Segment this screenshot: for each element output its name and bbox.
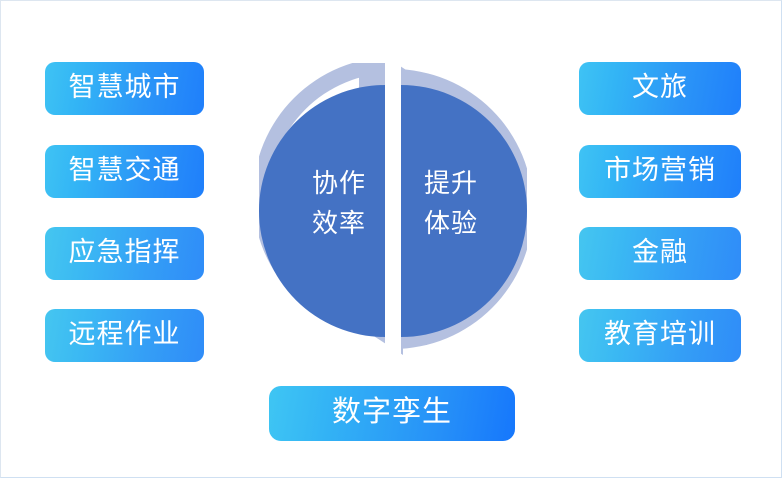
pill-left-smart-city[interactable]: 智慧城市 bbox=[45, 62, 204, 115]
cycle-label-right: 提升 体验 bbox=[405, 163, 497, 244]
pill-right-culture-tourism[interactable]: 文旅 bbox=[579, 62, 741, 115]
cycle-label-left: 协作 效率 bbox=[293, 163, 385, 244]
pill-label: 数字孪生 bbox=[332, 398, 452, 427]
cycle-label-left-line1: 协作 bbox=[293, 163, 385, 203]
pill-right-finance[interactable]: 金融 bbox=[579, 227, 741, 280]
pill-left-smart-transport[interactable]: 智慧交通 bbox=[45, 145, 204, 198]
cycle-label-right-line2: 体验 bbox=[405, 203, 497, 243]
pill-label: 金融 bbox=[632, 239, 688, 266]
pill-bottom-digital-twin[interactable]: 数字孪生 bbox=[269, 386, 515, 441]
pill-label: 应急指挥 bbox=[69, 239, 181, 266]
pill-label: 智慧交通 bbox=[69, 157, 181, 184]
diagram-canvas: 智慧城市 智慧交通 应急指挥 远程作业 文旅 市场营销 金融 教育培训 数字孪生 bbox=[0, 0, 782, 478]
pill-left-remote-operation[interactable]: 远程作业 bbox=[45, 309, 204, 362]
pill-label: 智慧城市 bbox=[69, 74, 181, 101]
pill-label: 教育培训 bbox=[604, 321, 716, 348]
pill-label: 市场营销 bbox=[604, 157, 716, 184]
cycle-label-left-line2: 效率 bbox=[293, 203, 385, 243]
pill-right-marketing[interactable]: 市场营销 bbox=[579, 145, 741, 198]
pill-label: 文旅 bbox=[632, 74, 688, 101]
cycle-label-right-line1: 提升 bbox=[405, 163, 497, 203]
center-cycle-diagram: 协作 效率 提升 体验 bbox=[259, 63, 527, 359]
pill-left-emergency-command[interactable]: 应急指挥 bbox=[45, 227, 204, 280]
pill-right-education-training[interactable]: 教育培训 bbox=[579, 309, 741, 362]
pill-label: 远程作业 bbox=[69, 321, 181, 348]
